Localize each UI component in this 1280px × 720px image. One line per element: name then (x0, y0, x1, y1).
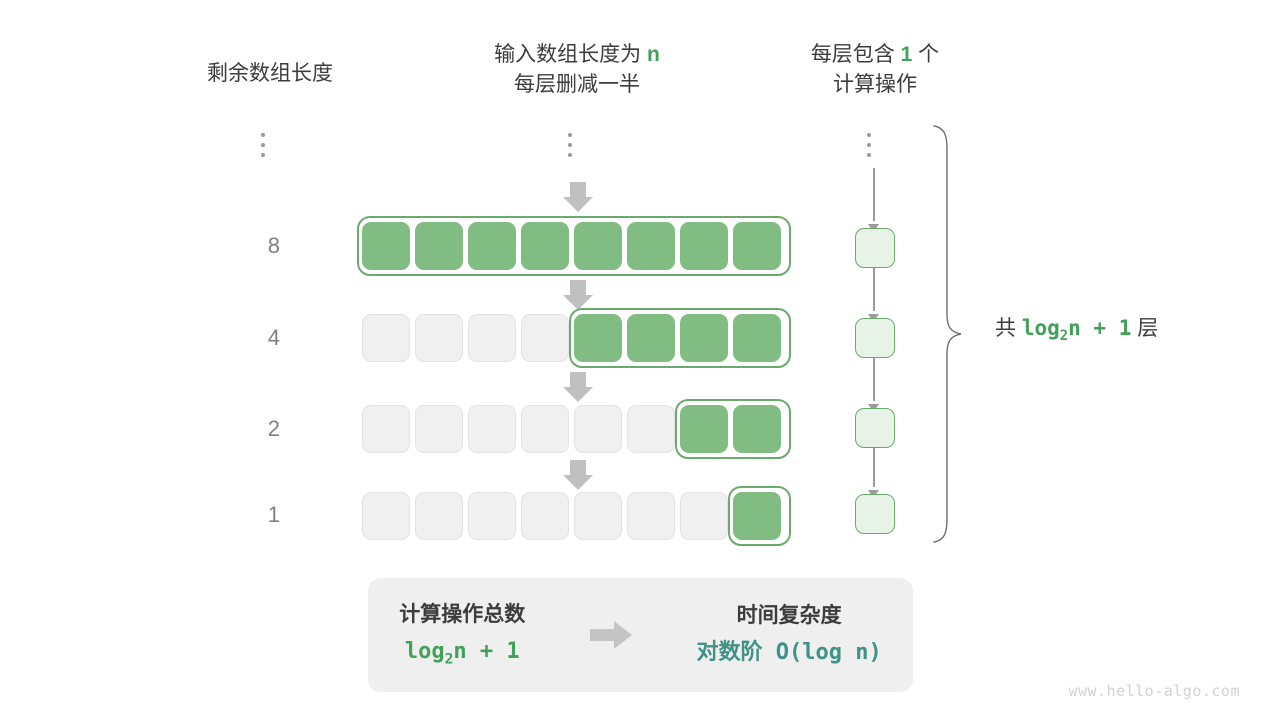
header-mid-line1-text: 输入数组长度为 (494, 43, 647, 66)
down-arrow-icon (561, 278, 595, 312)
array-cell-filled[interactable] (574, 314, 622, 362)
levels-formula: log2n + 1 (1022, 316, 1132, 340)
array-cell-empty[interactable] (415, 314, 463, 362)
ops-connector-line (873, 168, 875, 221)
summary-left-formula-pre: log (405, 639, 445, 664)
down-arrow-icon (561, 180, 595, 214)
header-right-accent-1: 1 (901, 43, 913, 66)
array-cell-empty[interactable] (521, 405, 569, 453)
dot (261, 133, 265, 137)
array-cell-empty[interactable] (415, 405, 463, 453)
header-input-array: 输入数组长度为 n 每层删减一半 (437, 40, 717, 100)
ellipsis-ops-column (867, 133, 871, 157)
array-cell-empty[interactable] (362, 492, 410, 540)
array-cell-filled[interactable] (680, 222, 728, 270)
down-arrow-icon (561, 370, 595, 404)
ops-connector-line (873, 358, 875, 401)
header-right-line1-pre: 每层包含 (811, 43, 901, 66)
dot (568, 143, 572, 147)
array-cell-filled[interactable] (733, 314, 781, 362)
array-row-2 (362, 400, 786, 458)
summary-left-formula: log2n + 1 (399, 636, 525, 670)
array-row-4 (362, 309, 786, 367)
arrow-head-icon (868, 309, 879, 317)
array-cell-empty[interactable] (521, 492, 569, 540)
array-cell-empty[interactable] (468, 314, 516, 362)
array-row-8 (362, 217, 786, 275)
ellipsis-array-column (568, 133, 572, 157)
ops-connector-line (873, 448, 875, 487)
array-cell-filled[interactable] (680, 405, 728, 453)
array-cell-empty[interactable] (468, 405, 516, 453)
watermark: www.hello-algo.com (1068, 682, 1240, 700)
dot (867, 153, 871, 157)
row-label-8: 8 (190, 235, 280, 257)
array-cell-filled[interactable] (468, 222, 516, 270)
summary-left-formula-post: n + 1 (453, 639, 519, 664)
array-cell-empty[interactable] (627, 405, 675, 453)
array-cell-filled[interactable] (521, 222, 569, 270)
array-cell-filled[interactable] (627, 314, 675, 362)
array-cell-filled[interactable] (627, 222, 675, 270)
array-cell-empty[interactable] (574, 492, 622, 540)
header-mid-line2: 每层删减一半 (437, 70, 717, 100)
array-cell-empty[interactable] (521, 314, 569, 362)
dot (867, 133, 871, 137)
levels-formula-sub: 2 (1060, 328, 1068, 344)
op-box[interactable] (855, 318, 895, 358)
levels-label-prefix: 共 (995, 317, 1022, 340)
array-cell-filled[interactable] (362, 222, 410, 270)
array-cell-filled[interactable] (415, 222, 463, 270)
array-cell-filled[interactable] (733, 222, 781, 270)
levels-label-suffix: 层 (1131, 317, 1158, 340)
header-right-line2: 计算操作 (765, 70, 985, 100)
header-right-line1-post: 个 (912, 43, 939, 66)
arrow-head-icon (868, 219, 879, 227)
header-remaining-array-length: 剩余数组长度 (175, 59, 365, 89)
array-cell-empty[interactable] (627, 492, 675, 540)
array-row-1 (362, 487, 786, 545)
summary-left: 计算操作总数 log2n + 1 (399, 600, 525, 671)
dot (568, 153, 572, 157)
op-box[interactable] (855, 494, 895, 534)
array-cell-filled[interactable] (733, 405, 781, 453)
arrow-head-icon (868, 485, 879, 493)
ops-connector-line (873, 268, 875, 311)
array-cell-empty[interactable] (680, 492, 728, 540)
summary-right: 时间复杂度 对数阶 O(log n) (696, 601, 881, 669)
summary-left-title: 计算操作总数 (399, 600, 525, 630)
array-cell-filled[interactable] (733, 492, 781, 540)
levels-formula-pre: log (1022, 316, 1060, 340)
summary-right-formula: 对数阶 O(log n) (696, 637, 881, 669)
row-label-1: 1 (190, 504, 280, 526)
row-label-2: 2 (190, 418, 280, 440)
levels-formula-post: n + 1 (1068, 316, 1131, 340)
header-ops-per-level: 每层包含 1 个 计算操作 (765, 40, 985, 100)
header-right-line1: 每层包含 1 个 (765, 40, 985, 70)
right-arrow-icon (588, 618, 634, 652)
dot (867, 143, 871, 147)
dot (261, 143, 265, 147)
array-cell-empty[interactable] (362, 314, 410, 362)
arrow-head-icon (868, 399, 879, 407)
op-box[interactable] (855, 228, 895, 268)
array-cell-filled[interactable] (680, 314, 728, 362)
dot (568, 133, 572, 137)
levels-label: 共 log2n + 1 层 (995, 313, 1158, 351)
header-left-text: 剩余数组长度 (207, 62, 333, 85)
array-cell-empty[interactable] (415, 492, 463, 540)
summary-right-title: 时间复杂度 (696, 601, 881, 631)
array-cell-filled[interactable] (574, 222, 622, 270)
row-label-4: 4 (190, 327, 280, 349)
ellipsis-left-column (261, 133, 265, 157)
header-mid-accent-n: n (647, 43, 660, 66)
summary-box: 计算操作总数 log2n + 1 时间复杂度 对数阶 O(log n) (368, 578, 913, 692)
levels-brace (930, 124, 964, 549)
header-mid-line1: 输入数组长度为 n (437, 40, 717, 70)
dot (261, 153, 265, 157)
array-cell-empty[interactable] (468, 492, 516, 540)
op-box[interactable] (855, 408, 895, 448)
array-cell-empty[interactable] (362, 405, 410, 453)
array-cell-empty[interactable] (574, 405, 622, 453)
diagram-canvas: 剩余数组长度 输入数组长度为 n 每层删减一半 每层包含 1 个 计算操作 8 … (0, 0, 1280, 720)
